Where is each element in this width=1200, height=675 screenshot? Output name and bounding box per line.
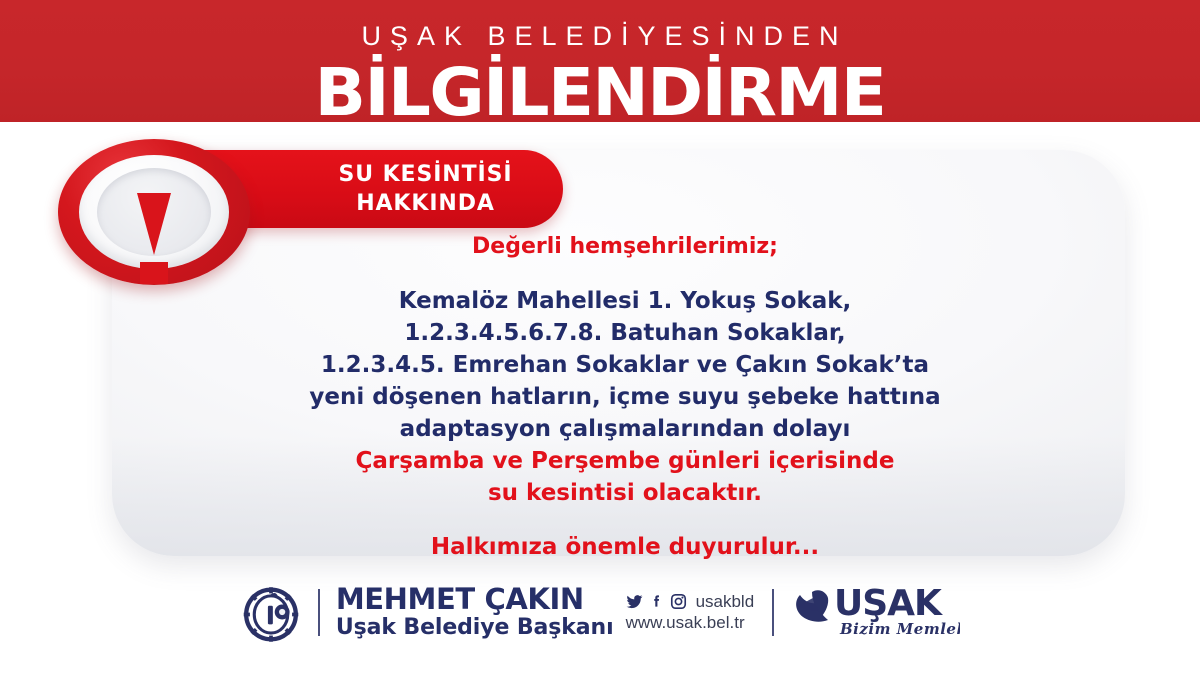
footer-divider-1 [318, 589, 320, 636]
mayor-name: MEHMET ÇAKIN [336, 585, 614, 614]
usak-brand-logo: UŞAK Bizim Memleketimiz [792, 579, 960, 645]
social-icons-row: usakbld [626, 593, 755, 610]
mayor-block: MEHMET ÇAKIN Uşak Belediye Başkanı [336, 585, 614, 639]
mayor-role: Uşak Belediye Başkanı [336, 617, 614, 639]
spacer [255, 514, 995, 536]
footer-bar: MEHMET ÇAKIN Uşak Belediye Başkanı usakb… [0, 578, 1200, 646]
social-block: usakbld www.usak.bel.tr [626, 593, 755, 631]
announcement-greeting: Değerli hemşehrilerimiz; [255, 236, 995, 258]
announcement-line-5: Çarşamba ve Perşembe günleri içerisinde [255, 450, 995, 473]
facebook-icon[interactable] [648, 593, 665, 610]
announcement-line-6: su kesintisi olacaktır. [255, 482, 995, 505]
announcement-body: Değerli hemşehrilerimiz; Kemalöz Mahelle… [255, 236, 995, 559]
instagram-icon[interactable] [670, 593, 687, 610]
alert-disc [79, 155, 229, 269]
heart-swoosh-icon [796, 590, 828, 621]
header-text-group: UŞAK BELEDİYESİNDEN BİLGİLENDİRME [0, 0, 1200, 122]
twitter-icon[interactable] [626, 593, 643, 610]
svg-text:Bizim Memleketimiz: Bizim Memleketimiz [839, 620, 960, 638]
subject-badge-line1: SU KESİNTİSİ [339, 160, 513, 189]
spacer [255, 266, 995, 290]
subject-badge-line2: HAKKINDA [356, 189, 495, 218]
svg-text:UŞAK: UŞAK [834, 583, 943, 624]
footer-divider-2 [772, 589, 774, 636]
announcement-line-0: Kemalöz Mahellesi 1. Yokuş Sokak, [255, 290, 995, 313]
exclamation-icon [137, 193, 171, 284]
announcement-line-1: 1.2.3.4.5.6.7.8. Batuhan Sokaklar, [255, 322, 995, 345]
header-kicker: UŞAK BELEDİYESİNDEN [0, 23, 1200, 50]
header-banner: UŞAK BELEDİYESİNDEN BİLGİLENDİRME [0, 0, 1200, 122]
alert-inner-disc [97, 168, 211, 256]
announcement-line-2: 1.2.3.4.5. Emrehan Sokaklar ve Çakın Sok… [255, 354, 995, 377]
social-handle: usakbld [696, 593, 755, 610]
announcement-line-4: adaptasyon çalışmalarından dolayı [255, 418, 995, 441]
website-url[interactable]: www.usak.bel.tr [626, 614, 755, 631]
exclamation-dot [140, 262, 168, 284]
usak-brand-mark: UŞAK Bizim Memleketimiz [792, 579, 960, 641]
municipality-crest-icon [240, 581, 302, 643]
announcement-closing: Halkımıza önemle duyurulur... [255, 536, 995, 559]
announcement-line-3: yeni döşenen hatların, içme suyu şebeke … [255, 386, 995, 409]
alert-badge [58, 139, 250, 285]
exclamation-stem [137, 193, 171, 255]
header-title: BİLGİLENDİRME [0, 60, 1200, 122]
